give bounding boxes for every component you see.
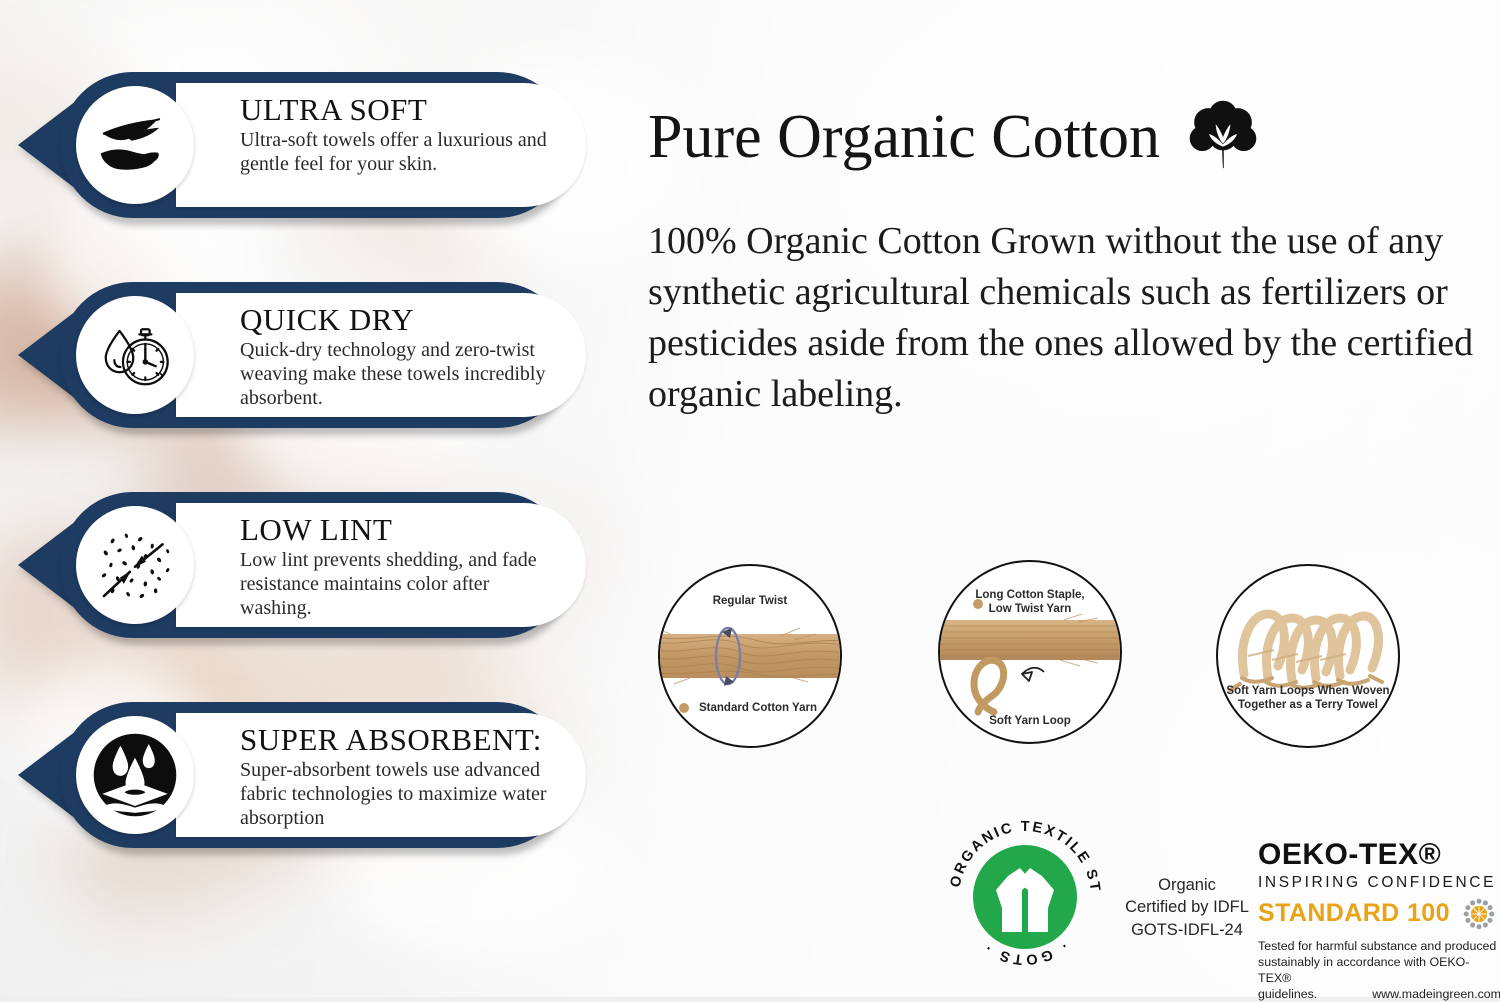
feature-title: ULTRA SOFT (240, 94, 556, 126)
headline-row: Pure Organic Cotton (648, 100, 1260, 174)
card-text-panel: LOW LINT Low lint prevents shedding, and… (176, 503, 586, 627)
yarn-top-label: Long Cotton Staple, Low Twist Yarn (940, 588, 1120, 616)
oeko-tex-disclaimer: Tested for harmful substance and produce… (1258, 938, 1500, 1002)
body-copy: 100% Organic Cotton Grown without the us… (648, 216, 1478, 420)
certification-row: GLOBAL ORGANIC TEXTILE STANDARD · GOTS ·… (940, 812, 1500, 987)
droplet-stopwatch-icon (76, 296, 194, 414)
feature-description: Ultra-soft towels offer a luxurious and … (240, 128, 556, 177)
oeko-tex-standard: STANDARD 100 (1258, 901, 1450, 926)
right-content-column: Pure Organic Cotton (640, 0, 1490, 997)
lint-particles-icon (76, 506, 194, 624)
water-absorption-icon (76, 716, 194, 834)
card-text-panel: QUICK DRY Quick-dry technology and zero-… (176, 293, 586, 417)
feature-title: LOW LINT (240, 514, 556, 546)
feature-card-super-absorbent: SUPER ABSORBENT: Super-absorbent towels … (18, 702, 598, 848)
feature-card-quick-dry: QUICK DRY Quick-dry technology and zero-… (18, 282, 598, 428)
feature-title: QUICK DRY (240, 304, 556, 336)
feature-card-low-lint: LOW LINT Low lint prevents shedding, and… (18, 492, 598, 638)
yarn-diagram-regular-twist: Regular Twist Standard Cotton Yarn (658, 564, 842, 748)
oeko-disclaimer-line-1: Tested for harmful substance and produce… (1258, 938, 1500, 954)
gots-caption: Organic Certified by IDFL GOTS-IDFL-24 (1122, 874, 1252, 941)
feature-list: ULTRA SOFT Ultra-soft towels offer a lux… (18, 72, 598, 912)
feature-description: Super-absorbent towels use advanced fabr… (240, 758, 556, 831)
oeko-disclaimer-line-2: sustainably in accordance with OEKO-TEX® (1258, 954, 1500, 986)
yarn-top-label: Regular Twist (660, 594, 840, 608)
oeko-tex-tagline: INSPIRING CONFIDENCE (1258, 875, 1500, 891)
feature-card-ultra-soft: ULTRA SOFT Ultra-soft towels offer a lux… (18, 72, 598, 218)
feature-description: Quick-dry technology and zero-twist weav… (240, 338, 556, 411)
gots-seal-icon: GLOBAL ORGANIC TEXTILE STANDARD · GOTS · (940, 812, 1110, 982)
feature-description: Low lint prevents shedding, and fade res… (240, 548, 556, 621)
oeko-tex-brand: OEKO-TEX® (1258, 840, 1500, 870)
cotton-boll-icon (1186, 100, 1260, 174)
oeko-tex-url: www.madeingreen.com (1372, 986, 1500, 1002)
feather-on-hand-icon (76, 86, 194, 204)
oeko-tex-block: OEKO-TEX® INSPIRING CONFIDENCE STANDARD … (1258, 840, 1500, 1002)
yarn-bottom-label: Soft Yarn Loops When Woven Together as a… (1218, 684, 1398, 712)
gots-caption-line-3: GOTS-IDFL-24 (1122, 919, 1252, 941)
card-text-panel: SUPER ABSORBENT: Super-absorbent towels … (176, 713, 586, 837)
gots-caption-line-1: Organic (1122, 874, 1252, 896)
oeko-disclaimer-line-3: guidelines. (1258, 986, 1317, 1002)
feature-title: SUPER ABSORBENT: (240, 724, 556, 756)
yarn-diagram-terry-loops: Soft Yarn Loops When Woven Together as a… (1216, 564, 1400, 748)
page-title: Pure Organic Cotton (648, 106, 1160, 168)
yarn-diagram-low-twist: Long Cotton Staple, Low Twist Yarn Soft … (938, 560, 1122, 744)
yarn-bottom-label: Standard Cotton Yarn (660, 701, 840, 715)
card-text-panel: ULTRA SOFT Ultra-soft towels offer a lux… (176, 83, 586, 207)
gots-caption-line-2: Certified by IDFL (1122, 896, 1252, 918)
yarn-diagram-row: Regular Twist Standard Cotton Yarn (648, 560, 1488, 750)
yarn-bottom-label: Soft Yarn Loop (940, 714, 1120, 728)
made-in-green-flower-icon (1462, 897, 1496, 931)
